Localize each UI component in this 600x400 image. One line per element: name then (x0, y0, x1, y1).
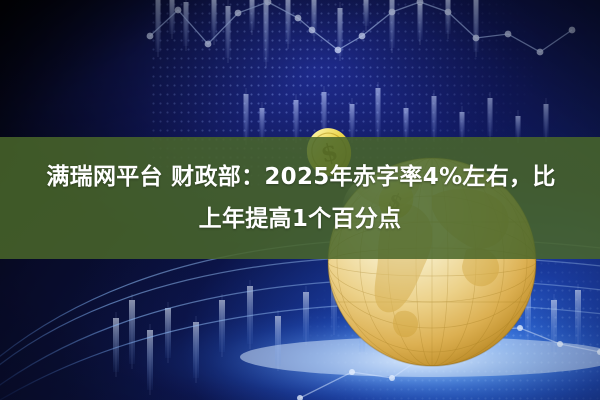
caption-line-1: 满瑞网平台 财政部：2025年赤字率4%左右，比 (46, 157, 555, 197)
banner-image: $ $ 满瑞网平台 财政部：2025年赤字率4%左右，比 上年提高1个百分点 (0, 0, 600, 400)
caption-line-2: 上年提高1个百分点 (199, 199, 402, 239)
caption-text-block: 满瑞网平台 财政部：2025年赤字率4%左右，比 上年提高1个百分点 (0, 137, 600, 259)
